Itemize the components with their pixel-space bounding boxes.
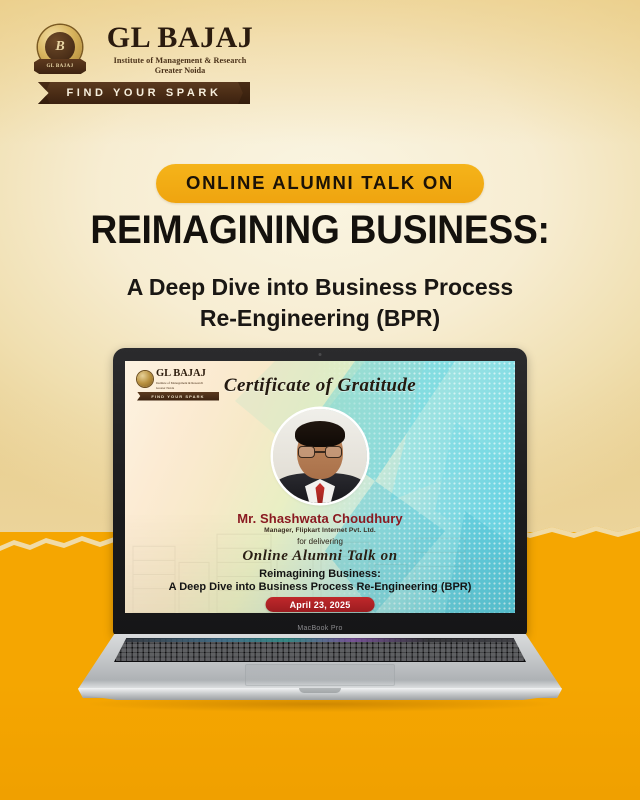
page-title: REIMAGINING BUSINESS: bbox=[22, 208, 617, 253]
speaker-avatar bbox=[273, 409, 367, 503]
certificate: GL BAJAJ Institute of Management & Resea… bbox=[125, 361, 515, 613]
brand-tagline: FIND YOUR SPARK bbox=[66, 87, 221, 99]
laptop-mockup: GL BAJAJ Institute of Management & Resea… bbox=[0, 348, 640, 720]
brand-wordmark: GL BAJAJ Institute of Management & Resea… bbox=[100, 22, 260, 75]
speaker-name: Mr. Shashwata Choudhury bbox=[125, 511, 515, 526]
brand-logo: B GL BAJAJ GL BAJAJ Institute of Managem… bbox=[26, 22, 256, 104]
speaker-designation: Manager, Flipkart Internet Pvt. Ltd. bbox=[125, 527, 515, 534]
certificate-topic-line1: Reimagining Business: bbox=[125, 568, 515, 580]
page-subtitle-line1: A Deep Dive into Business Process bbox=[127, 274, 513, 300]
laptop-latch-notch bbox=[299, 688, 341, 693]
certificate-event-script: Online Alumni Talk on bbox=[125, 548, 515, 565]
poster-canvas: B GL BAJAJ GL BAJAJ Institute of Managem… bbox=[0, 0, 640, 800]
page-subtitle: A Deep Dive into Business Process Re-Eng… bbox=[0, 272, 640, 334]
laptop-screen: GL BAJAJ Institute of Management & Resea… bbox=[125, 361, 515, 613]
avatar-hair bbox=[295, 421, 345, 447]
certificate-date-badge: April 23, 2025 bbox=[266, 597, 375, 612]
certificate-for-text: for delivering bbox=[125, 537, 515, 546]
crest-monogram: B bbox=[45, 32, 75, 62]
webcam-icon bbox=[319, 353, 322, 356]
event-type-badge: ONLINE ALUMNI TALK ON bbox=[156, 164, 484, 203]
certificate-topic-line2: A Deep Dive into Business Process Re-Eng… bbox=[125, 581, 515, 593]
crest-icon: B GL BAJAJ bbox=[34, 23, 86, 77]
avatar-glasses-icon bbox=[298, 446, 342, 458]
laptop-trackpad bbox=[245, 664, 395, 686]
laptop-lid: GL BAJAJ Institute of Management & Resea… bbox=[113, 348, 527, 636]
certificate-title: Certificate of Gratitude bbox=[125, 375, 515, 397]
brand-subtitle-1: Institute of Management & Research bbox=[100, 56, 260, 65]
crest-band-label: GL BAJAJ bbox=[34, 59, 86, 74]
brand-tagline-ribbon: FIND YOUR SPARK bbox=[38, 82, 250, 104]
laptop-model-label: MacBook Pro bbox=[113, 625, 527, 632]
brand-subtitle-2: Greater Noida bbox=[100, 66, 260, 75]
event-type-label: ONLINE ALUMNI TALK ON bbox=[186, 172, 454, 193]
brand-name: GL BAJAJ bbox=[100, 22, 260, 54]
laptop-keyboard bbox=[114, 638, 526, 662]
page-subtitle-line2: Re-Engineering (BPR) bbox=[200, 305, 440, 331]
